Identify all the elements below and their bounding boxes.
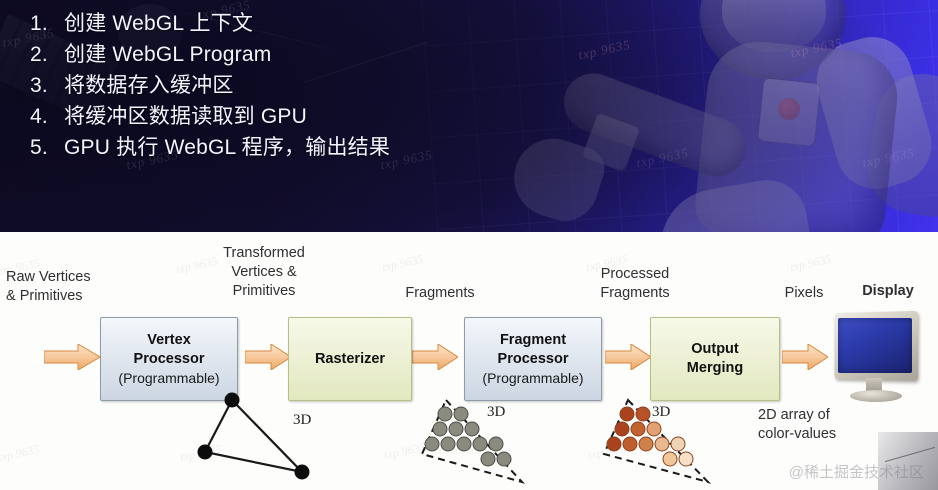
stage-box-vertex-processor[interactable]: Vertex Processor (Programmable) [100,317,238,401]
list-item: 2. 创建 WebGL Program [30,39,590,70]
caption-line: Vertices & [200,263,328,282]
caption-pixels: Pixels [768,284,840,303]
monitor-screen [838,318,912,373]
slide-root: txp 9635 txp 9635 txp 9635 txp 9635 txp … [0,0,938,490]
list-item-number: 4. [30,101,64,132]
stage-title-line2: Processor [134,350,205,369]
list-item-label: 将缓冲区数据读取到 GPU [64,101,590,132]
list-item-number: 3. [30,70,64,101]
hero-panel: txp 9635 txp 9635 txp 9635 txp 9635 txp … [0,0,938,232]
caption-transformed-vertices: Transformed Vertices & Primitives [200,244,328,301]
fragment-triangle-illustration [418,396,548,488]
graphics-pipeline-diagram: txp 9635 txp 9635 txp 9635 txp 9635 txp … [0,232,938,490]
wireframe-triangle-illustration [180,390,340,486]
display-monitor-icon [832,312,924,404]
caption-raw-vertices: Raw Vertices & Primitives [6,268,136,306]
stage-title-line1: Rasterizer [315,350,385,369]
caption-line: Raw Vertices [6,268,136,287]
stage-box-fragment-processor[interactable]: Fragment Processor (Programmable) [464,317,602,401]
caption-line: Fragments [576,284,694,303]
list-item-label: 将数据存入缓冲区 [64,70,590,101]
list-item-number: 2. [30,39,64,70]
caption-line: Primitives [200,282,328,301]
label-3d-1: 3D [293,412,311,429]
caption-line: Fragments [382,284,498,303]
stage-title-line1: Output [691,340,739,359]
watermark-text: txp 9635 [0,442,41,465]
steps-list: 1. 创建 WebGL 上下文 2. 创建 WebGL Program 3. 将… [30,8,590,163]
caption-processed-fragments: Processed Fragments [576,265,694,303]
list-item-label: GPU 执行 WebGL 程序，输出结果 [64,132,590,163]
caption-line: Processed [576,265,694,284]
caption-line: Pixels [768,284,840,303]
list-item-label: 创建 WebGL Program [64,39,590,70]
list-item: 4. 将缓冲区数据读取到 GPU [30,101,590,132]
list-item-label: 创建 WebGL 上下文 [64,8,590,39]
stage-box-output-merging[interactable]: Output Merging [650,317,780,401]
flow-arrow [44,344,100,370]
caption-display: Display [846,282,930,301]
label-3d-3: 3D [652,404,670,421]
stage-title-line1: Fragment [500,331,566,350]
list-item: 1. 创建 WebGL 上下文 [30,8,590,39]
stage-title-line2: Merging [687,359,743,378]
caption-line: Transformed [200,244,328,263]
caption-line: Display [846,282,930,301]
monitor-base [850,390,902,402]
flow-arrow [412,344,458,370]
stage-subtitle: (Programmable) [118,369,219,388]
watermark-text: txp 9635 [381,252,425,275]
list-item-number: 1. [30,8,64,39]
list-item: 5. GPU 执行 WebGL 程序，输出结果 [30,132,590,163]
list-item-number: 5. [30,132,64,163]
list-item: 3. 将数据存入缓冲区 [30,70,590,101]
caption-fragments: Fragments [382,284,498,303]
flow-arrow [605,344,651,370]
stage-title-line2: Processor [498,350,569,369]
flow-arrow [245,344,291,370]
watermark-text: txp 9635 [789,252,833,275]
community-watermark: @稀土掘金技术社区 [789,461,924,482]
caption-line: & Primitives [6,287,136,306]
flow-arrow [782,344,828,370]
caption-line: 2D array of [758,406,908,425]
stage-box-rasterizer[interactable]: Rasterizer [288,317,412,401]
stage-subtitle: (Programmable) [482,369,583,388]
stage-title-line1: Vertex [147,331,191,350]
label-3d-2: 3D [487,404,505,421]
